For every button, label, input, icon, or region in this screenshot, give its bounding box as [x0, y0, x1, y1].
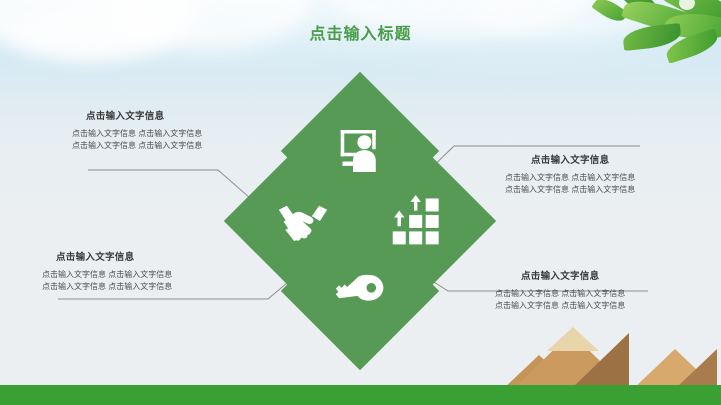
block-body-line: 点击输入文字信息 点击输入文字信息 [72, 140, 202, 152]
key-icon [304, 235, 416, 347]
pyramid-shadow [675, 349, 717, 389]
block-body-line: 点击输入文字信息 点击输入文字信息 [505, 172, 635, 184]
text-block-bottom-right: 点击输入文字信息 点击输入文字信息 点击输入文字信息 点击输入文字信息 点击输入… [495, 268, 625, 311]
block-heading: 点击输入文字信息 [531, 152, 635, 166]
block-body-line: 点击输入文字信息 点击输入文字信息 [495, 300, 625, 312]
block-body-line: 点击输入文字信息 点击输入文字信息 [505, 184, 635, 196]
block-body: 点击输入文字信息 点击输入文字信息 点击输入文字信息 点击输入文字信息 [42, 269, 172, 292]
block-heading: 点击输入文字信息 [86, 108, 202, 122]
text-block-bottom-left: 点击输入文字信息 点击输入文字信息 点击输入文字信息 点击输入文字信息 点击输入… [42, 249, 172, 292]
diamond-cluster [248, 95, 473, 370]
slide-canvas: 点击输入标题 [0, 0, 721, 405]
block-body-line: 点击输入文字信息 点击输入文字信息 [495, 288, 625, 300]
block-body-line: 点击输入文字信息 点击输入文字信息 [72, 128, 202, 140]
text-block-top-left: 点击输入文字信息 点击输入文字信息 点击输入文字信息 点击输入文字信息 点击输入… [72, 108, 202, 151]
block-body-line: 点击输入文字信息 点击输入文字信息 [42, 269, 172, 281]
block-body: 点击输入文字信息 点击输入文字信息 点击输入文字信息 点击输入文字信息 [505, 172, 635, 195]
pyramid-cap [547, 327, 599, 351]
text-block-top-right: 点击输入文字信息 点击输入文字信息 点击输入文字信息 点击输入文字信息 点击输入… [505, 152, 635, 195]
block-body: 点击输入文字信息 点击输入文字信息 点击输入文字信息 点击输入文字信息 [72, 128, 202, 151]
block-body: 点击输入文字信息 点击输入文字信息 点击输入文字信息 点击输入文字信息 [495, 288, 625, 311]
block-heading: 点击输入文字信息 [521, 268, 625, 282]
bottom-green-strip [0, 385, 721, 405]
block-body-line: 点击输入文字信息 点击输入文字信息 [42, 281, 172, 293]
block-heading: 点击输入文字信息 [56, 249, 172, 263]
